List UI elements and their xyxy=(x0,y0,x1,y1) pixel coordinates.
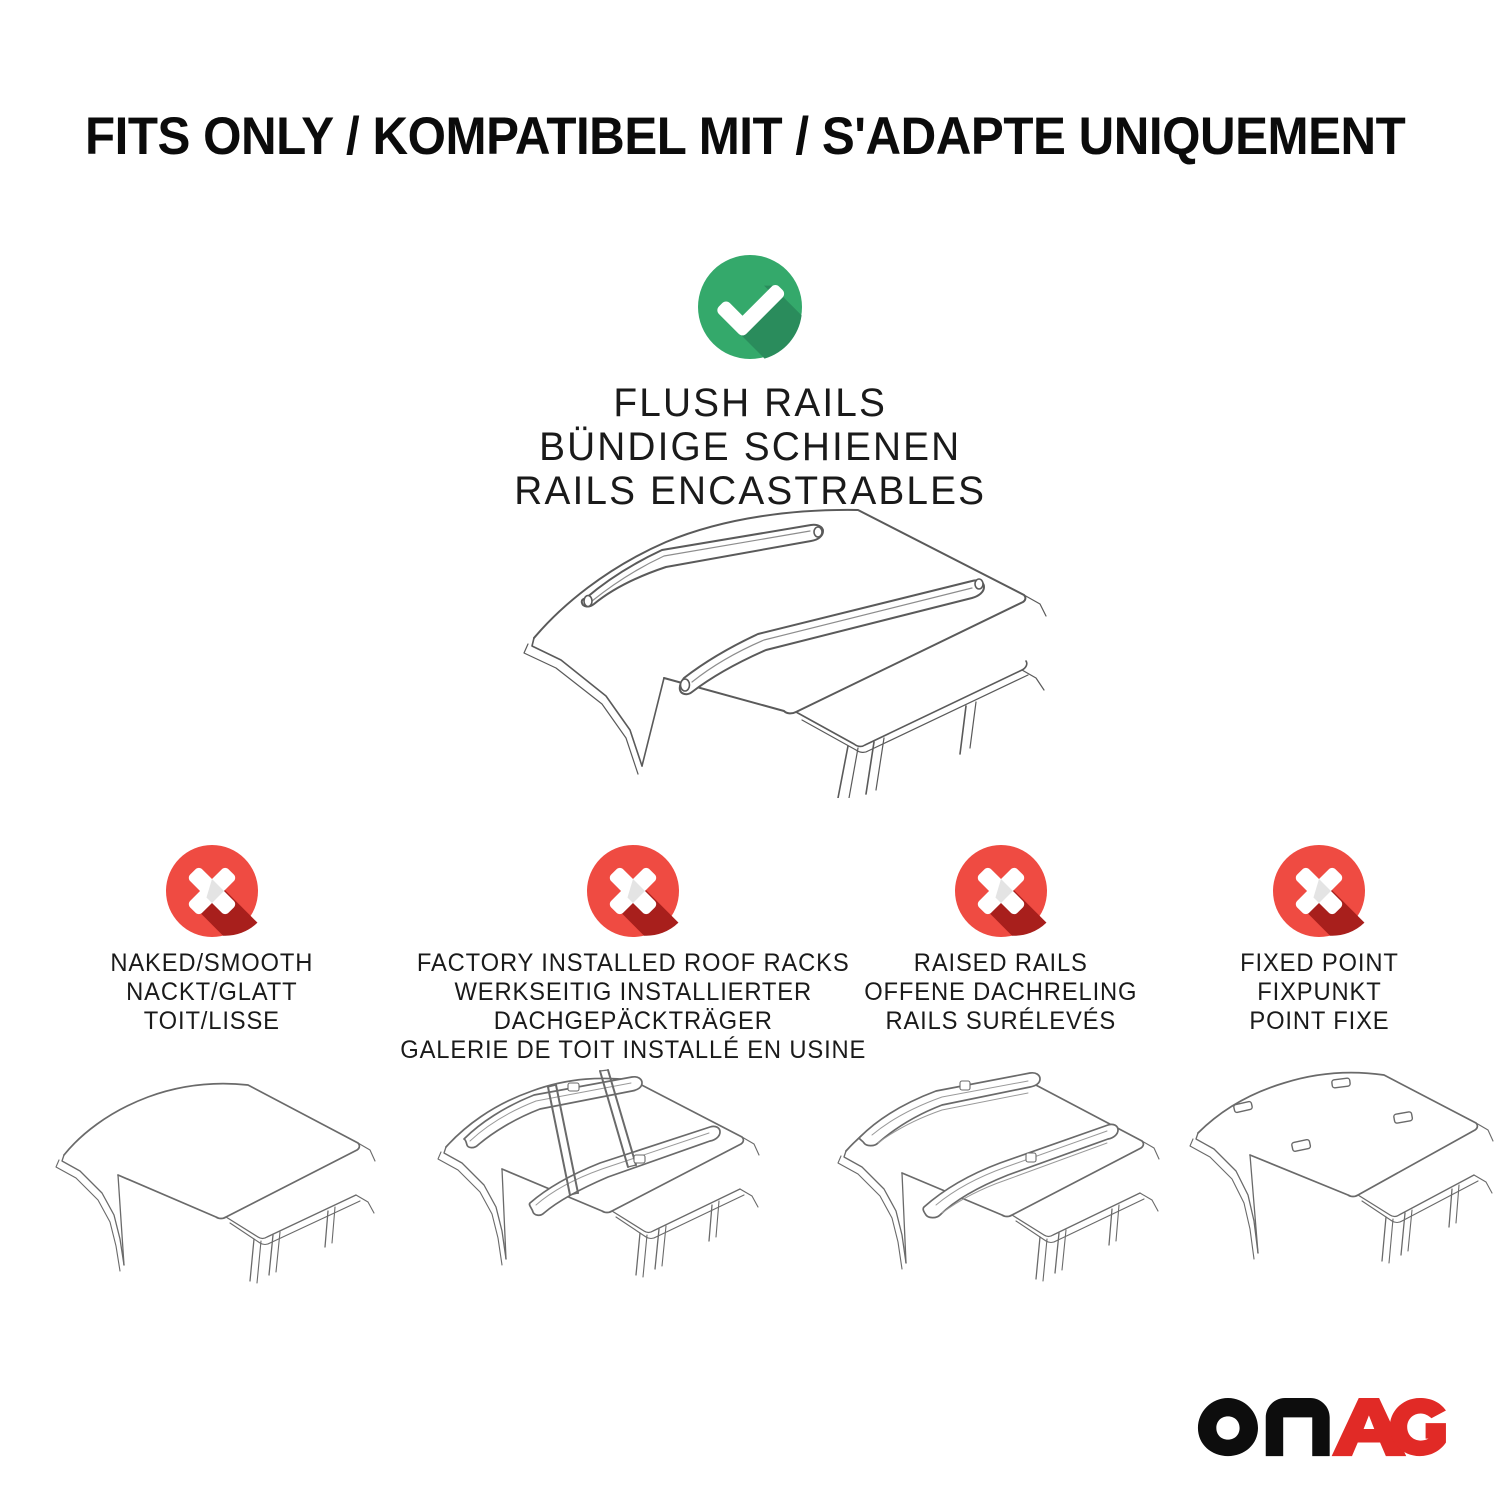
car-roof-factory-roof-rack-illustration xyxy=(420,1055,790,1295)
label-en: RAISED RAILS xyxy=(864,949,1137,978)
label-de: OFFENE DACHRELING xyxy=(864,978,1137,1007)
incompatible-labels: NAKED/SMOOTH NACKT/GLATT TOIT/LISSE xyxy=(111,949,314,1036)
incompatible-section: NAKED/SMOOTH NACKT/GLATT TOIT/LISSE FACT… xyxy=(0,845,1500,1065)
omac-logo xyxy=(1196,1396,1448,1458)
label-en: FACTORY INSTALLED ROOF RACKS xyxy=(400,949,866,978)
cross-circle-icon xyxy=(955,845,1047,937)
label-fr: POINT FIXE xyxy=(1240,1007,1399,1036)
check-circle-icon xyxy=(698,255,802,359)
incompatible-item-raised-rails: RAISED RAILS OFFENE DACHRELING RAILS SUR… xyxy=(862,845,1140,1036)
label-en: FIXED POINT xyxy=(1240,949,1399,978)
label-fr: RAILS SURÉLEVÉS xyxy=(864,1007,1137,1036)
incompatible-labels: RAISED RAILS OFFENE DACHRELING RAILS SUR… xyxy=(864,949,1137,1036)
car-roof-fixed-point-illustration xyxy=(1180,1055,1500,1295)
incompatible-labels: FACTORY INSTALLED ROOF RACKS WERKSEITIG … xyxy=(400,949,866,1065)
label-en: NAKED/SMOOTH xyxy=(111,949,314,978)
incompatible-item-factory-roof-racks: FACTORY INSTALLED ROOF RACKS WERKSEITIG … xyxy=(398,845,868,1065)
roof-type-illustrations xyxy=(0,1055,1500,1295)
compatible-section: FLUSH RAILS BÜNDIGE SCHIENEN RAILS ENCAS… xyxy=(0,255,1500,513)
car-roof-raised-rails-illustration xyxy=(820,1055,1190,1295)
incompatible-item-naked-smooth: NAKED/SMOOTH NACKT/GLATT TOIT/LISSE xyxy=(52,845,372,1036)
label-de-1: WERKSEITIG INSTALLIERTER xyxy=(400,978,866,1007)
label-de: FIXPUNKT xyxy=(1240,978,1399,1007)
cross-circle-icon xyxy=(1273,845,1365,937)
cross-circle-icon xyxy=(587,845,679,937)
page-title: FITS ONLY / KOMPATIBEL MIT / S'ADAPTE UN… xyxy=(85,106,1331,168)
label-fr: TOIT/LISSE xyxy=(111,1007,314,1036)
compatible-label-en: FLUSH RAILS xyxy=(514,381,986,425)
compatible-labels: FLUSH RAILS BÜNDIGE SCHIENEN RAILS ENCAS… xyxy=(514,381,986,513)
compatible-label-de: BÜNDIGE SCHIENEN xyxy=(514,425,986,469)
incompatible-labels: FIXED POINT FIXPUNKT POINT FIXE xyxy=(1240,949,1399,1036)
car-roof-naked-smooth-illustration xyxy=(40,1055,400,1295)
label-de-2: DACHGEPÄCKTRÄGER xyxy=(400,1007,866,1036)
cross-circle-icon xyxy=(166,845,258,937)
car-roof-flush-rails-illustration xyxy=(466,498,1066,798)
label-de: NACKT/GLATT xyxy=(111,978,314,1007)
incompatible-item-fixed-point: FIXED POINT FIXPUNKT POINT FIXE xyxy=(1172,845,1466,1036)
